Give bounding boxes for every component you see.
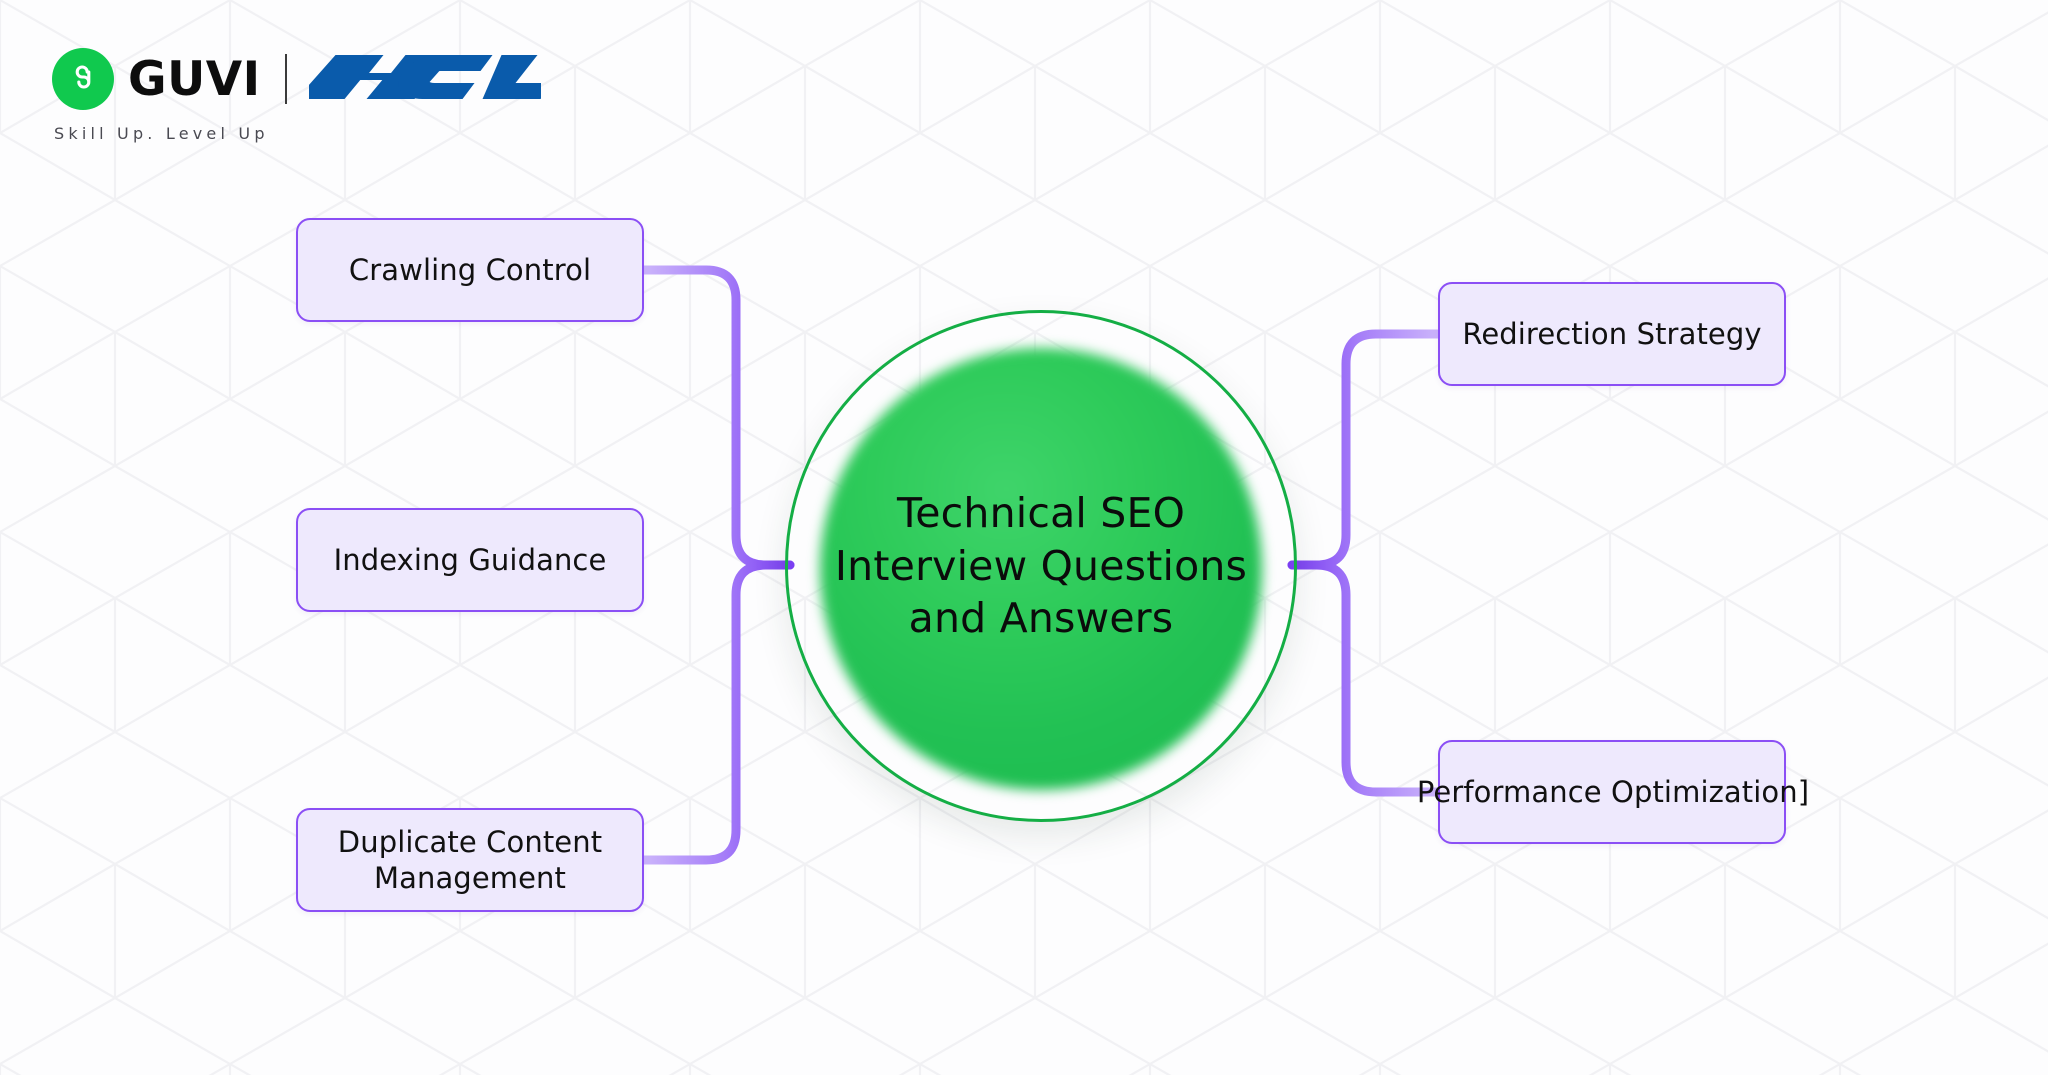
guvi-wordmark: GUVI xyxy=(128,56,261,103)
brand-tagline: Skill Up. Level Up xyxy=(54,124,541,143)
node-performance-optimization[interactable]: Performance Optimization] xyxy=(1438,740,1786,844)
node-duplicate-content-management-label: Duplicate Content Management xyxy=(338,824,602,897)
node-crawling-control-label: Crawling Control xyxy=(349,252,591,288)
connector-redirection-strategy xyxy=(1292,334,1438,565)
node-redirection-strategy[interactable]: Redirection Strategy xyxy=(1438,282,1786,386)
node-duplicate-content-management[interactable]: Duplicate Content Management xyxy=(296,808,644,912)
brand-header: GUVI Skill Up. Level Up xyxy=(52,48,541,143)
node-indexing-guidance-label: Indexing Guidance xyxy=(334,542,607,578)
vertical-divider-icon xyxy=(285,54,287,104)
node-performance-optimization-label: Performance Optimization] xyxy=(1417,774,1809,810)
connector-crawling-control xyxy=(644,270,790,565)
node-crawling-control[interactable]: Crawling Control xyxy=(296,218,644,322)
guvi-g-mark-icon xyxy=(52,48,114,110)
center-node[interactable]: Technical SEO Interview Questions and An… xyxy=(785,310,1297,822)
brand-logo-row: GUVI xyxy=(52,48,541,110)
node-indexing-guidance[interactable]: Indexing Guidance xyxy=(296,508,644,612)
node-redirection-strategy-label: Redirection Strategy xyxy=(1462,316,1761,352)
diagram-canvas: GUVI Skill Up. Level Up xyxy=(0,0,2048,1075)
connector-performance-optimization xyxy=(1292,565,1438,792)
connector-duplicate-content xyxy=(644,565,790,860)
hcl-wordmark-icon xyxy=(309,49,541,110)
center-node-label: Technical SEO Interview Questions and An… xyxy=(785,310,1297,822)
